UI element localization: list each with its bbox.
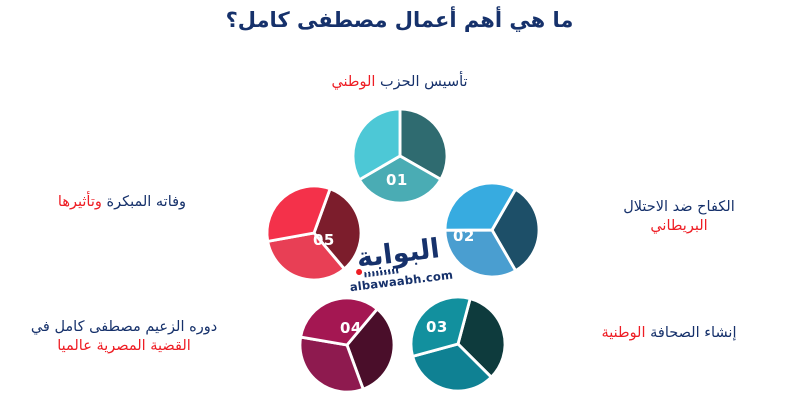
callout-label-04-plain: دوره الزعيم مصطفى كامل في <box>0 318 248 337</box>
brand-logo-dot-icon <box>356 269 363 276</box>
infographic-canvas: ما هي أهم أعمال مصطفى كامل؟ تأسيس الحزب … <box>0 0 799 412</box>
callout-label-04: دوره الزعيم مصطفى كامل في القضية المصرية… <box>0 318 248 356</box>
pie-chart-03[interactable]: 03 <box>410 296 506 392</box>
callout-label-03-plain: إنشاء الصحافة <box>650 325 736 341</box>
pie-chart-04[interactable]: 04 <box>299 297 395 393</box>
callout-label-05: وفاته المبكرة وتأثيرها <box>0 193 244 212</box>
pie-chart-04-graphic <box>299 297 395 393</box>
callout-label-03-highlight: الوطنية <box>602 325 646 341</box>
pie-chart-01-graphic <box>352 108 448 204</box>
callout-label-05-plain: وفاته المبكرة <box>106 194 186 210</box>
callout-label-02-plain: الكفاح ضد الاحتلال <box>559 198 799 217</box>
callout-label-02-highlight: البريطاني <box>559 217 799 236</box>
page-title: ما هي أهم أعمال مصطفى كامل؟ <box>0 8 799 32</box>
pie-chart-01[interactable]: 01 <box>352 108 448 204</box>
callout-label-01-plain: تأسيس الحزب <box>380 74 468 90</box>
callout-label-04-highlight: القضية المصرية عالميا <box>0 337 248 356</box>
pie-chart-03-graphic <box>410 296 506 392</box>
callout-label-03: إنشاء الصحافة الوطنية <box>539 324 799 343</box>
callout-label-01-highlight: الوطني <box>331 74 375 90</box>
callout-label-05-highlight: وتأثيرها <box>58 194 102 210</box>
callout-label-02: الكفاح ضد الاحتلال البريطاني <box>559 198 799 236</box>
callout-label-01: تأسيس الحزب الوطني <box>0 73 799 92</box>
